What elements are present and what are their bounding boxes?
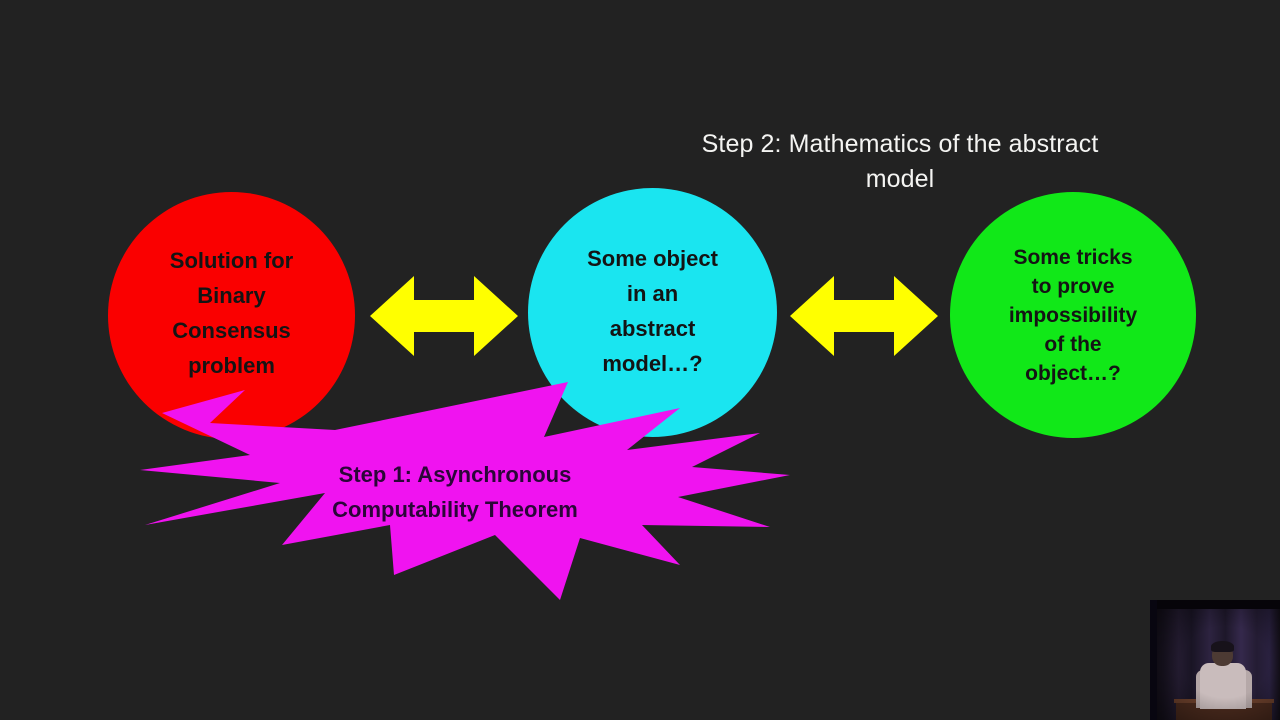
bubble-label: Some object in an abstract model…? bbox=[528, 241, 777, 385]
bubble-some-tricks-impossibility: Some tricks to prove impossibility of th… bbox=[950, 192, 1196, 438]
presentation-slide: Step 2: Mathematics of the abstract mode… bbox=[0, 0, 1280, 720]
presenter-video-overlay[interactable] bbox=[1150, 600, 1280, 720]
double-headed-arrow-icon-left bbox=[370, 272, 518, 360]
starburst-shape bbox=[140, 375, 790, 610]
double-headed-arrow-icon-right bbox=[790, 272, 938, 360]
video-left-letterbox bbox=[1150, 600, 1157, 720]
bubble-label: Some tricks to prove impossibility of th… bbox=[950, 243, 1196, 388]
bubble-label: Solution for Binary Consensus problem bbox=[108, 243, 355, 389]
page-title: Step 2: Mathematics of the abstract mode… bbox=[660, 127, 1140, 197]
video-vignette bbox=[1150, 600, 1280, 720]
video-top-letterbox bbox=[1150, 600, 1280, 609]
